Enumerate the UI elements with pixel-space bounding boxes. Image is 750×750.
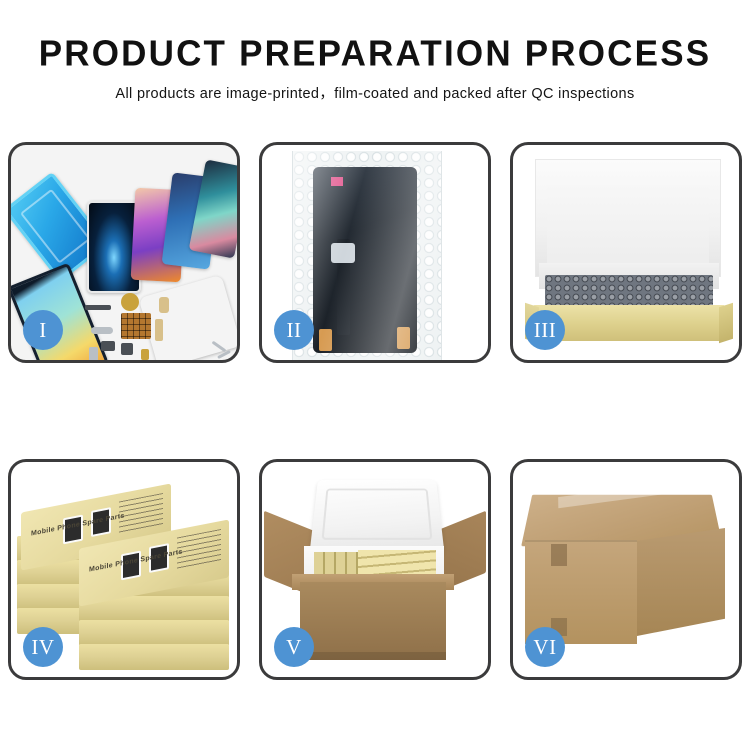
process-step-panel-2[interactable]: II — [259, 142, 491, 363]
screw-post-part — [141, 349, 149, 360]
box-spec-lines-b — [177, 529, 221, 572]
carton-seam-line — [525, 540, 637, 542]
earpiece-mesh-part — [85, 305, 111, 310]
speaker-part — [121, 293, 139, 311]
step-badge-3: III — [525, 310, 565, 350]
styrofoam-lid — [310, 480, 445, 553]
flex-cable-part-a — [159, 297, 169, 313]
logic-chip-icon — [121, 313, 151, 339]
process-step-panel-1[interactable]: I — [8, 142, 240, 363]
small-components-cluster — [85, 291, 235, 360]
stacked-box-edge-7 — [79, 620, 229, 646]
bubble-wrap-bag — [292, 151, 442, 360]
carton-mark-upper — [551, 544, 567, 566]
box-lid-inner-face — [547, 185, 709, 275]
box-spec-lines-a — [119, 493, 163, 536]
process-step-panel-4[interactable]: Mobile Phone Spare Parts Mobile Phone Sp… — [8, 459, 240, 680]
step-badge-4: IV — [23, 627, 63, 667]
process-step-panel-3[interactable]: III — [510, 142, 742, 363]
plastic-sheen-overlay — [293, 151, 441, 360]
step-badge-5: V — [274, 627, 314, 667]
camera-module-part — [101, 341, 115, 351]
connector-part — [91, 327, 113, 334]
sim-tray-part — [89, 347, 98, 360]
process-steps-grid: I II III — [8, 142, 742, 674]
page-title: PRODUCT PREPARATION PROCESS — [0, 33, 750, 75]
process-step-panel-5[interactable]: V — [259, 459, 491, 680]
step-badge-2: II — [274, 310, 314, 350]
stacked-box-edge-8 — [79, 644, 229, 670]
carton-body — [300, 582, 446, 660]
process-step-panel-6[interactable]: VI — [510, 459, 742, 680]
page-subtitle: All products are image-printed，film-coat… — [0, 82, 750, 103]
screw-part-a — [212, 341, 227, 353]
flex-cable-part-b — [155, 319, 163, 341]
step-badge-1: I — [23, 310, 63, 350]
vibrator-part — [121, 343, 133, 355]
carton-side-face — [637, 528, 725, 636]
page-header: PRODUCT PREPARATION PROCESS All products… — [0, 0, 750, 103]
step-badge-6: VI — [525, 627, 565, 667]
